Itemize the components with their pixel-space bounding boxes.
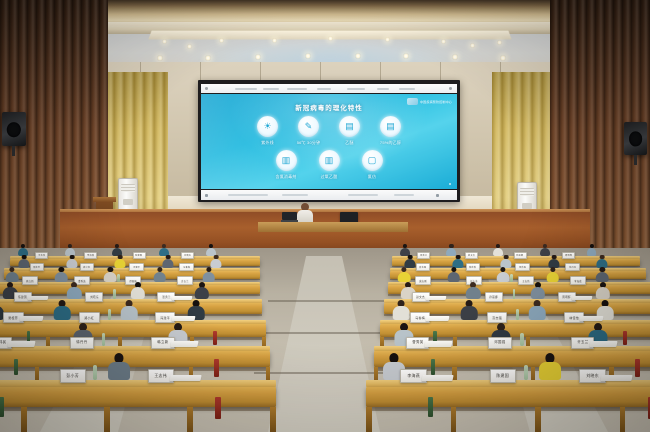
water-bottle — [102, 333, 105, 346]
lecture-hall-photo: 中国疾病预防控制中心 新冠病毒的理化特性 ☀紫外线✎56℃ 30分钟▤乙醚▤75… — [0, 0, 650, 432]
audience-member — [596, 282, 610, 300]
name-card: 刘晓东 — [181, 252, 194, 259]
desk-shadow — [0, 407, 276, 411]
name-card-text: 曹秀英 — [412, 341, 423, 346]
name-card: 邓国强 — [488, 337, 511, 349]
name-card-text: 韩立新 — [27, 279, 35, 283]
slide-canvas: 中国疾病预防控制中心 新冠病毒的理化特性 ☀紫外线✎56℃ 30分钟▤乙醚▤75… — [201, 94, 457, 189]
desk-leg — [187, 407, 193, 432]
desk-shadow — [0, 337, 266, 340]
name-card: 唐志刚 — [415, 276, 431, 285]
name-card: 彭小芳 — [60, 369, 86, 383]
water-bottle — [513, 289, 516, 299]
slide-feature-item: ▥含氯消毒剂 — [271, 150, 301, 180]
audience-member — [546, 267, 559, 283]
projection-screen: 中国疾病预防控制中心 新冠病毒的理化特性 ☀紫外线✎56℃ 30分钟▤乙醚▤75… — [198, 80, 460, 202]
handout-paper — [426, 316, 450, 321]
ceiling-downlight — [452, 54, 458, 60]
ceiling-downlight — [157, 55, 163, 61]
name-card-text: 林佳怡 — [569, 315, 579, 320]
name-card: 孙丽娜 — [514, 252, 527, 259]
water-bottle — [93, 365, 97, 380]
name-card-text: 刘晓东 — [184, 253, 191, 257]
desk-front-panel — [0, 324, 266, 337]
aisle-step — [268, 300, 384, 302]
name-card-text: 马春梅 — [415, 315, 425, 320]
handout-paper — [426, 296, 447, 300]
audience-member — [398, 267, 411, 283]
water-bottle — [524, 365, 528, 380]
audience-member — [195, 282, 209, 300]
name-card-text: 徐丹丹 — [76, 341, 87, 346]
name-card-text: 何伟民 — [0, 341, 6, 346]
name-card: 吴桂芳 — [30, 263, 44, 271]
name-card-text: 陈建国 — [497, 373, 510, 379]
handout-paper — [170, 341, 198, 347]
shelf-book — [215, 397, 221, 419]
slide-feature-label: 过氧乙酸 — [314, 174, 344, 180]
desk-leg — [104, 407, 110, 432]
slide-icon-glyph: ▥ — [282, 156, 291, 165]
audience-member — [466, 282, 480, 300]
audience-torso — [131, 287, 145, 299]
audience-member — [596, 267, 609, 283]
handout-paper — [422, 375, 454, 381]
ceiling-downlight — [272, 38, 277, 43]
name-card-text: 何伟民 — [519, 265, 526, 269]
audience-torso — [539, 362, 561, 380]
name-card: 王志伟 — [35, 252, 48, 259]
name-card-text: 赵文杰 — [468, 253, 475, 257]
presenter-laptop — [282, 212, 297, 222]
handout-paper — [8, 341, 36, 347]
name-card-text: 孙丽娜 — [489, 295, 498, 299]
desk-surface — [0, 380, 276, 387]
audience-member — [19, 255, 30, 269]
slide-icon-glyph: ☀ — [263, 122, 271, 131]
audience-torso — [596, 272, 609, 283]
name-card: 孙丽娜 — [485, 292, 503, 302]
shelf-book — [0, 397, 4, 417]
handout-paper — [424, 341, 452, 347]
shelf-book — [428, 397, 433, 417]
aisle-step — [262, 332, 390, 334]
desk-leg — [366, 407, 372, 432]
audience-member — [531, 282, 545, 300]
audience-member — [587, 244, 597, 256]
ceiling-downlight — [255, 54, 261, 60]
powerpoint-status-bar — [201, 190, 457, 200]
ether-bottle-icon: ▤ — [339, 116, 360, 137]
shelf-book — [214, 359, 219, 377]
name-card-text: 李海燕 — [574, 279, 582, 283]
audience-torso — [466, 287, 480, 299]
name-card-text: 徐丹丹 — [569, 265, 576, 269]
name-card: 周明辉 — [562, 252, 575, 259]
name-card-text: 马春梅 — [183, 265, 190, 269]
name-card-text: 唐志刚 — [419, 279, 427, 283]
ceiling-downlight — [187, 44, 192, 49]
slide-feature-label: 75%的乙醇 — [376, 140, 406, 146]
name-card: 李海燕 — [570, 276, 586, 285]
handout-paper — [590, 341, 618, 347]
name-card-text: 陈建国 — [18, 295, 27, 299]
ceiling-downlight — [219, 38, 224, 43]
shelf-book — [635, 359, 640, 377]
audience-torso — [587, 248, 597, 256]
speaker-mount-left — [12, 146, 15, 156]
ceiling-downlight — [500, 55, 506, 61]
ceiling-downlight — [441, 39, 446, 44]
slide-feature-item: ✎56℃ 30分钟 — [294, 116, 324, 146]
ceiling-downlight — [205, 55, 211, 61]
name-card: 高志强 — [416, 263, 430, 271]
name-card: 李海燕 — [84, 252, 97, 259]
name-card-text: 邓国强 — [495, 341, 506, 346]
name-card: 韩立新 — [22, 276, 38, 285]
name-card-text: 吴桂芳 — [33, 265, 40, 269]
audience-member — [104, 267, 117, 283]
name-card: 陈建国 — [490, 369, 516, 383]
name-card: 郑小红 — [80, 263, 94, 271]
name-card-text: 张秀兰 — [420, 253, 427, 257]
slide-icon-glyph: ▥ — [325, 156, 334, 165]
water-bottle — [520, 333, 523, 346]
name-card-text: 刘晓东 — [586, 373, 599, 379]
peracetic-acid-icon: ▥ — [319, 150, 340, 171]
slide-feature-label: 紫外线 — [253, 140, 283, 146]
disinfectant-icon: ▥ — [276, 150, 297, 171]
slide-icon-row-1: ☀紫外线✎56℃ 30分钟▤乙醚▤75%的乙醇 — [201, 116, 457, 146]
audience-member — [121, 300, 138, 321]
name-card-text: 郑小红 — [83, 265, 90, 269]
audience-torso — [596, 287, 610, 299]
name-card: 徐丹丹 — [565, 263, 579, 271]
wall-speaker-left — [2, 112, 26, 146]
audience-torso — [393, 306, 410, 320]
ceiling-downlight — [497, 40, 502, 45]
handout-paper — [171, 316, 195, 321]
name-card: 冯建平 — [129, 263, 143, 271]
head-table — [258, 222, 408, 232]
chloroform-icon: ▢ — [362, 150, 383, 171]
desk-front-panel — [0, 351, 270, 367]
audience-torso — [108, 362, 130, 380]
audience-member — [447, 267, 460, 283]
name-card-text: 王志伟 — [523, 279, 531, 283]
name-card: 赵文杰 — [465, 252, 478, 259]
name-card-text: 王志伟 — [154, 373, 167, 379]
handout-paper — [572, 296, 593, 300]
ceiling-downlight — [385, 37, 390, 42]
name-card-text: 赵文杰 — [417, 295, 426, 299]
name-card-text: 孙丽娜 — [516, 253, 523, 257]
name-card-text: 李海燕 — [87, 253, 94, 257]
audience-member — [6, 267, 19, 283]
ceiling-downlight — [355, 53, 361, 59]
name-card: 马春梅 — [179, 263, 193, 271]
name-card-text: 林佳怡 — [469, 265, 476, 269]
name-card-text: 许玉兰 — [181, 279, 189, 283]
audience-torso — [19, 259, 30, 268]
slide-icon-glyph: ✎ — [305, 122, 313, 131]
name-card-text: 周明辉 — [565, 253, 572, 257]
name-card: 张秀兰 — [417, 252, 430, 259]
slide-icon-glyph: ▤ — [386, 122, 395, 131]
name-card-text: 韩立新 — [157, 341, 168, 346]
name-card: 刘晓东 — [85, 292, 103, 302]
slide-feature-item: ☀紫外线 — [253, 116, 283, 146]
name-card-text: 彭小芳 — [67, 373, 80, 379]
name-card: 徐丹丹 — [70, 337, 93, 349]
audience-member — [393, 300, 410, 321]
handout-paper — [580, 316, 604, 321]
audience-torso — [529, 306, 546, 320]
audience-torso — [6, 272, 19, 283]
name-card-text: 刘晓东 — [90, 295, 99, 299]
ceiling-downlight — [470, 43, 475, 48]
slide-feature-item: ▥过氧乙酸 — [314, 150, 344, 180]
audience-torso — [531, 287, 545, 299]
desk-front-panel — [0, 387, 276, 407]
desk-leg — [535, 407, 541, 432]
slide-feature-label: 含氯消毒剂 — [271, 174, 301, 180]
name-card-text: 高志强 — [492, 315, 502, 320]
ceiling-downlight — [162, 39, 167, 44]
shelf-book — [213, 331, 217, 345]
audience-member — [497, 267, 510, 283]
shelf-book — [623, 331, 627, 345]
slide-title: 新冠病毒的理化特性 — [201, 102, 457, 112]
desk-front-panel — [366, 387, 650, 407]
podium-top — [93, 197, 116, 202]
audience-torso — [54, 306, 71, 320]
slide-icon-glyph: ▢ — [368, 156, 377, 165]
handout-paper — [28, 296, 49, 300]
audience-member — [461, 300, 478, 321]
shelf-book — [431, 359, 435, 375]
water-bottle — [113, 289, 116, 299]
name-card: 许玉兰 — [177, 276, 193, 285]
name-card: 林佳怡 — [466, 263, 480, 271]
slide-icon-row-2: ▥含氯消毒剂▥过氧乙酸▢氯仿 — [201, 150, 457, 180]
audience-torso — [447, 272, 460, 283]
desk-shadow — [0, 367, 270, 370]
water-bottle — [108, 309, 111, 320]
slide-feature-label: 乙醚 — [335, 140, 365, 146]
powerpoint-ribbon — [201, 84, 457, 93]
ceiling-downlight — [305, 53, 311, 59]
shelf-book — [14, 359, 18, 375]
wall-speaker-right — [624, 122, 647, 155]
audience-torso — [497, 272, 510, 283]
desk-leg — [620, 407, 626, 432]
name-card-text: 冯建平 — [133, 265, 140, 269]
audience-torso — [153, 272, 166, 283]
water-bottle — [516, 309, 519, 320]
audience-member — [55, 267, 68, 283]
audience-torso — [104, 272, 117, 283]
audience-torso — [546, 272, 559, 283]
name-card: 高志强 — [487, 312, 507, 323]
desk-shadow — [366, 407, 650, 411]
name-card-text: 高志强 — [419, 265, 426, 269]
desk-leg — [451, 407, 457, 432]
audience-member — [131, 282, 145, 300]
audience-torso — [398, 272, 411, 283]
name-card-text: 许玉兰 — [577, 341, 588, 346]
slide-feature-item: ▤75%的乙醇 — [376, 116, 406, 146]
audience-member — [108, 353, 130, 380]
ceiling-downlight — [328, 36, 333, 41]
speaker-mount-right — [634, 155, 637, 165]
audience-torso — [67, 259, 78, 268]
name-card: 郑小红 — [79, 312, 99, 323]
water-bottle — [510, 274, 512, 282]
desk-front-panel — [380, 324, 650, 337]
audience-member — [67, 282, 81, 300]
slide-feature-item: ▤乙醚 — [335, 116, 365, 146]
slide-feature-label: 56℃ 30分钟 — [294, 140, 324, 146]
name-card-text: 李海燕 — [407, 373, 420, 379]
desk-leg — [270, 407, 276, 432]
audience-torso — [121, 306, 138, 320]
name-card-text: 吴桂芳 — [9, 315, 19, 320]
name-card: 何伟民 — [515, 263, 529, 271]
name-card-text: 郑小红 — [84, 315, 94, 320]
audience-member — [54, 300, 71, 321]
name-card-text: 周明辉 — [562, 295, 571, 299]
uv-rays-icon: ☀ — [257, 116, 278, 137]
ceiling-downlight — [403, 53, 409, 59]
name-card: 陈建国 — [133, 252, 146, 259]
audience-torso — [202, 272, 215, 283]
audience-member — [202, 267, 215, 283]
desk-front-panel — [374, 351, 650, 367]
audience-member — [153, 267, 166, 283]
audience-torso — [55, 272, 68, 283]
audience-member — [539, 353, 561, 380]
slide-page-indicator — [449, 183, 451, 185]
slide-feature-label: 氯仿 — [357, 174, 387, 180]
audience-torso — [195, 287, 209, 299]
audience-torso — [67, 287, 81, 299]
name-card-text: 陈建国 — [135, 253, 142, 257]
audience-torso — [461, 306, 478, 320]
desk-leg — [21, 407, 27, 432]
audience-member — [67, 255, 78, 269]
alcohol-icon: ▤ — [380, 116, 401, 137]
name-card-text: 王志伟 — [38, 253, 45, 257]
handout-paper — [601, 375, 633, 381]
slide-icon-glyph: ▤ — [345, 122, 354, 131]
handout-paper — [19, 316, 43, 321]
slide-feature-item: ▢氯仿 — [357, 150, 387, 180]
audience-member — [529, 300, 546, 321]
thermometer-icon: ✎ — [298, 116, 319, 137]
name-card-text: 张秀兰 — [162, 295, 171, 299]
name-card-text: 冯建平 — [160, 315, 170, 320]
water-bottle — [117, 274, 119, 282]
handout-paper — [169, 375, 201, 381]
